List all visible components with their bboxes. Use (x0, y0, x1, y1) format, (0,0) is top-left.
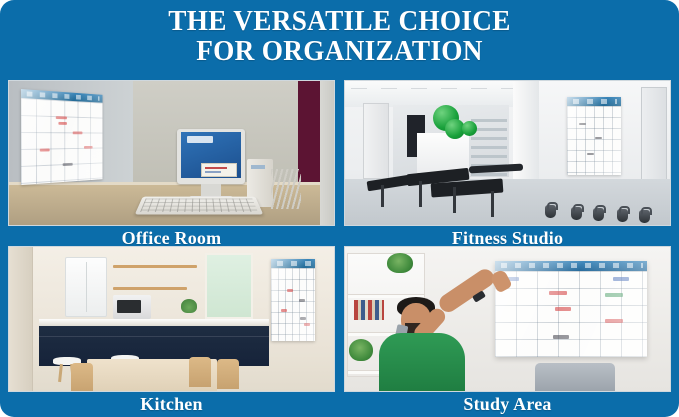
kitchen-chair (71, 363, 93, 392)
kitchen-door (9, 247, 33, 392)
office-cables (271, 169, 301, 209)
fitness-studio-photo (344, 80, 671, 226)
books (354, 300, 384, 320)
office-wall-calendar (21, 89, 102, 185)
kitchen-wall-calendar (271, 259, 315, 341)
exercise-ball (462, 121, 477, 136)
kitchen-countertop (39, 319, 269, 326)
panel-study-area: Study Area (344, 246, 671, 414)
study-wall-calendar (495, 261, 647, 357)
panel-kitchen: Kitchen (8, 246, 335, 414)
study-area-photo (344, 246, 671, 392)
kettlebell (639, 210, 650, 223)
panel-grid: Office Room (8, 80, 671, 410)
caption-study-area: Study Area (344, 392, 671, 414)
title-line-2: FOR ORGANIZATION (20, 36, 658, 66)
kettlebell (545, 205, 556, 218)
poster-root: THE VERSATILE CHOICE FOR ORGANIZATION (0, 0, 679, 417)
kitchen-window (205, 253, 253, 319)
office-monitor-logo (187, 136, 213, 143)
caption-fitness-studio: Fitness Studio (344, 226, 671, 248)
gym-wall-calendar (567, 97, 621, 175)
study-plant (387, 253, 413, 273)
kitchen-photo (8, 246, 335, 392)
kitchen-chair (217, 359, 239, 389)
calendar-glare (21, 89, 102, 185)
kettlebell (617, 209, 628, 222)
kitchen-shelf (113, 287, 187, 290)
study-laptop (535, 363, 615, 392)
study-person-torso (379, 333, 465, 392)
calendar-glare (567, 97, 621, 175)
office-far-wall (320, 81, 335, 226)
gym-door-left (363, 103, 389, 179)
kitchen-chair (189, 357, 211, 387)
office-sticky-note (201, 163, 237, 177)
study-plant (349, 339, 373, 361)
kettlebell (593, 208, 604, 221)
kettlebell (571, 207, 582, 220)
title-line-1: THE VERSATILE CHOICE (20, 6, 658, 36)
kitchen-plant (181, 299, 197, 313)
page-title: THE VERSATILE CHOICE FOR ORGANIZATION (0, 6, 679, 66)
office-keyboard (135, 197, 264, 215)
calendar-glare (271, 259, 315, 341)
kitchen-refrigerator (65, 257, 107, 317)
panel-office-room: Office Room (8, 80, 335, 248)
caption-kitchen: Kitchen (8, 392, 335, 414)
office-room-photo (8, 80, 335, 226)
kitchen-shelf (113, 265, 197, 268)
caption-office-room: Office Room (8, 226, 335, 248)
calendar-glare (495, 261, 647, 357)
kitchen-microwave (113, 295, 151, 319)
panel-fitness-studio: Fitness Studio (344, 80, 671, 248)
